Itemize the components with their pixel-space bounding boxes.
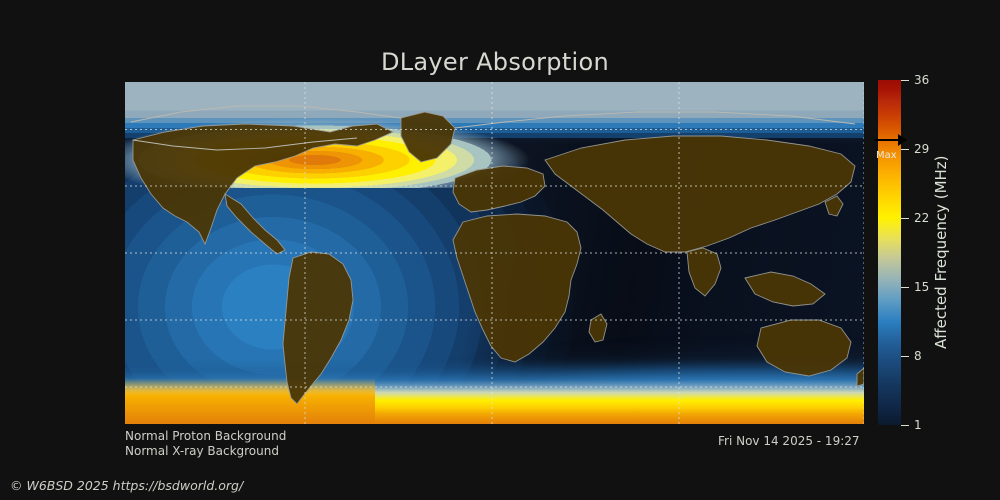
colorbar-tick: 22 (901, 211, 929, 225)
colorbar-tick: 1 (901, 418, 922, 432)
dlayer-absorption-page: DLayer Absorption (0, 0, 1000, 500)
timestamp: Fri Nov 14 2025 - 19:27 (718, 434, 860, 448)
colorbar-tick: 8 (901, 349, 922, 363)
xray-background-note: Normal X-ray Background (125, 444, 286, 459)
colorbar-tick: 29 (901, 142, 929, 156)
colorbar-axis-label: Affected Frequency (MHz) (930, 80, 952, 425)
colorbar-max-label: Max (876, 150, 897, 161)
colorbar-tick: 36 (901, 73, 929, 87)
proton-background-note: Normal Proton Background (125, 429, 286, 444)
map-coastlines (125, 82, 864, 424)
colorbar-tick: 15 (901, 280, 929, 294)
absorption-map[interactable] (125, 82, 864, 424)
copyright-notice: © W6BSD 2025 https://bsdworld.org/ (10, 478, 243, 493)
page-title: DLayer Absorption (0, 48, 990, 76)
background-conditions: Normal Proton Background Normal X-ray Ba… (125, 429, 286, 459)
